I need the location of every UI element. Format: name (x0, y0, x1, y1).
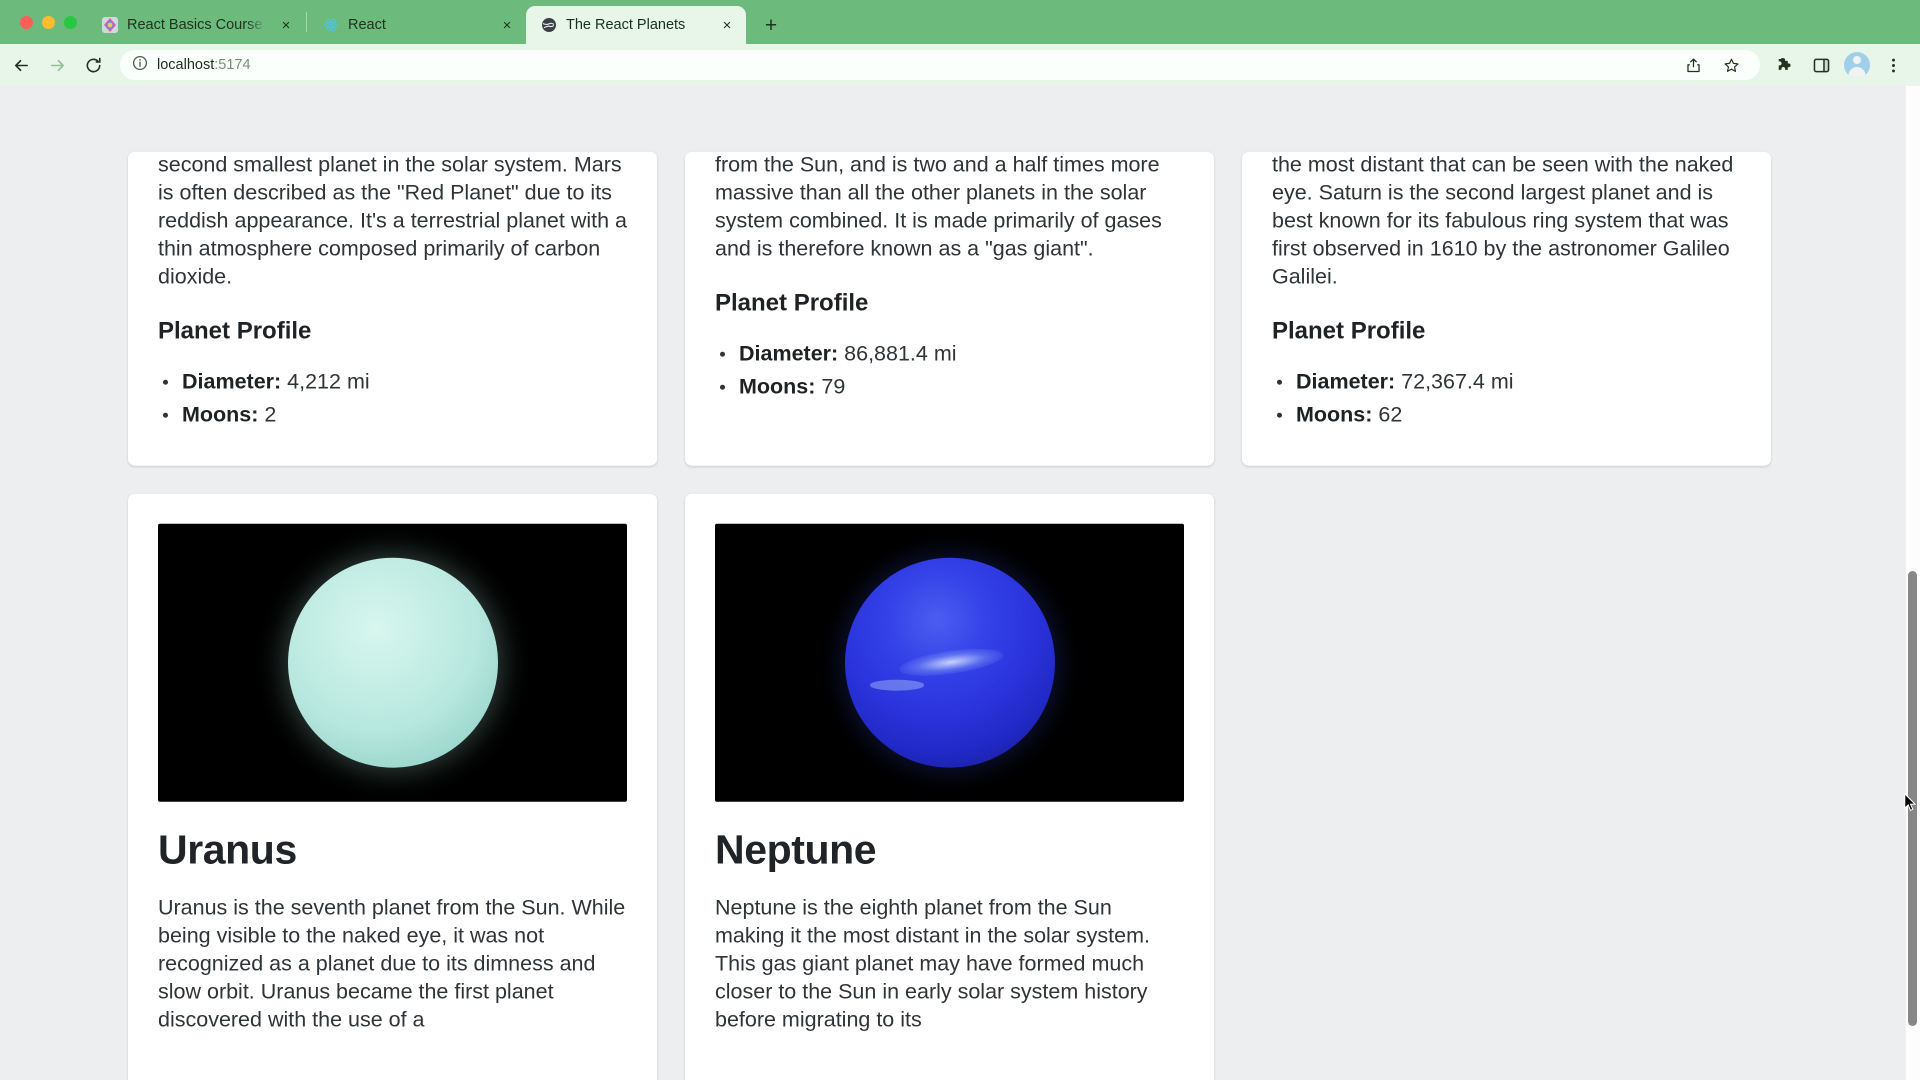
planet-description: Uranus is the seventh planet from the Su… (158, 895, 627, 1035)
planet-card-saturn: the most distant that can be seen with t… (1242, 152, 1771, 466)
profile-moons: Moons: 62 (1272, 399, 1741, 432)
moons-label: Moons: (739, 375, 815, 399)
close-icon[interactable]: × (716, 14, 738, 36)
url-port: :5174 (214, 57, 250, 73)
share-icon[interactable] (1676, 48, 1710, 82)
diameter-label: Diameter: (1296, 369, 1395, 393)
tab-title: React Basics Course (How To) (127, 17, 266, 33)
avatar[interactable] (1844, 52, 1870, 78)
planet-card-mars: second smallest planet in the solar syst… (128, 152, 657, 466)
tab-divider (306, 12, 307, 32)
neptune-photo (715, 524, 1184, 802)
url-host: localhost (157, 57, 214, 73)
forward-arrow-icon (40, 48, 74, 82)
diameter-label: Diameter: (182, 369, 281, 393)
profile-moons: Moons: 2 (158, 399, 627, 432)
diameter-label: Diameter: (739, 341, 838, 365)
planet-profile-heading: Planet Profile (1272, 317, 1741, 345)
bookmark-star-icon[interactable] (1714, 48, 1748, 82)
close-window-button[interactable] (20, 16, 33, 29)
profile-diameter: Diameter: 4,212 mi (158, 365, 627, 398)
profile-diameter: Diameter: 72,367.4 mi (1272, 365, 1741, 398)
moons-label: Moons: (182, 403, 258, 427)
planet-card-neptune: Neptune Neptune is the eighth planet fro… (685, 494, 1214, 1080)
browser-toolbar: localhost:5174 (0, 44, 1920, 86)
side-panel-icon[interactable] (1804, 48, 1838, 82)
planet-description: from the Sun, and is two and a half time… (715, 152, 1184, 264)
close-icon[interactable]: × (496, 14, 518, 36)
moons-label: Moons: (1296, 403, 1372, 427)
tab-strip: React Basics Course (How To) × React (0, 0, 1920, 44)
avatar-body (1849, 67, 1866, 78)
planets-page: second smallest planet in the solar syst… (0, 152, 1905, 1080)
page-viewport[interactable]: second smallest planet in the solar syst… (0, 86, 1920, 1080)
planet-name: Uranus (158, 828, 627, 873)
planet-globe-icon (540, 17, 557, 34)
extensions-puzzle-icon[interactable] (1768, 48, 1802, 82)
avatar-head (1853, 56, 1861, 64)
browser-window: React Basics Course (How To) × React (0, 0, 1920, 1080)
tab-react-basics-course[interactable]: React Basics Course (How To) × (87, 6, 305, 44)
profile-diameter: Diameter: 86,881.4 mi (715, 337, 1184, 370)
page-scrollbar-track[interactable] (1905, 86, 1920, 1080)
planet-profile-list: Diameter: 4,212 mi Moons: 2 (158, 365, 627, 432)
planet-profile-list: Diameter: 72,367.4 mi Moons: 62 (1272, 365, 1741, 432)
new-tab-button[interactable]: + (754, 8, 788, 42)
planet-name: Neptune (715, 828, 1184, 873)
tab-title: The React Planets (566, 17, 707, 33)
profile-avatar[interactable] (1840, 48, 1874, 82)
react-course-icon (101, 17, 118, 34)
neptune-sphere (845, 558, 1055, 768)
planet-grid-row-1: second smallest planet in the solar syst… (0, 152, 1905, 466)
back-arrow-icon[interactable] (4, 48, 38, 82)
planet-grid-row-2: Uranus Uranus is the seventh planet from… (0, 494, 1905, 1080)
planet-profile-heading: Planet Profile (715, 289, 1184, 317)
minimize-window-button[interactable] (42, 16, 55, 29)
diameter-value: 4,212 mi (287, 369, 369, 393)
planet-card-uranus: Uranus Uranus is the seventh planet from… (128, 494, 657, 1080)
close-icon[interactable]: × (275, 14, 297, 36)
window-controls (12, 0, 87, 44)
omnibox-actions (1676, 48, 1748, 82)
moons-value: 62 (1378, 403, 1402, 427)
tab-title: React (348, 17, 487, 33)
diameter-value: 86,881.4 mi (844, 341, 956, 365)
page-scrollbar-thumb[interactable] (1908, 571, 1917, 1026)
tab-the-react-planets[interactable]: The React Planets × (526, 6, 746, 44)
planet-profile-heading: Planet Profile (158, 317, 627, 345)
tabs-container: React Basics Course (How To) × React (87, 0, 746, 44)
maximize-window-button[interactable] (64, 16, 77, 29)
uranus-photo (158, 524, 627, 802)
moons-value: 79 (821, 375, 845, 399)
planet-description: second smallest planet in the solar syst… (158, 152, 627, 292)
planet-card-jupiter: from the Sun, and is two and a half time… (685, 152, 1214, 466)
url-text: localhost:5174 (157, 57, 1667, 73)
planet-description: the most distant that can be seen with t… (1272, 152, 1741, 292)
chrome-menu-icon[interactable] (1876, 48, 1910, 82)
reload-icon[interactable] (76, 48, 110, 82)
address-bar[interactable]: localhost:5174 (120, 50, 1760, 80)
diameter-value: 72,367.4 mi (1401, 369, 1513, 393)
planet-profile-list: Diameter: 86,881.4 mi Moons: 79 (715, 337, 1184, 404)
planet-description: Neptune is the eighth planet from the Su… (715, 895, 1184, 1035)
info-circle-icon[interactable] (132, 55, 148, 76)
profile-moons: Moons: 79 (715, 371, 1184, 404)
uranus-sphere (288, 558, 498, 768)
tab-react[interactable]: React × (308, 6, 526, 44)
react-atom-icon (322, 17, 339, 34)
moons-value: 2 (264, 403, 276, 427)
